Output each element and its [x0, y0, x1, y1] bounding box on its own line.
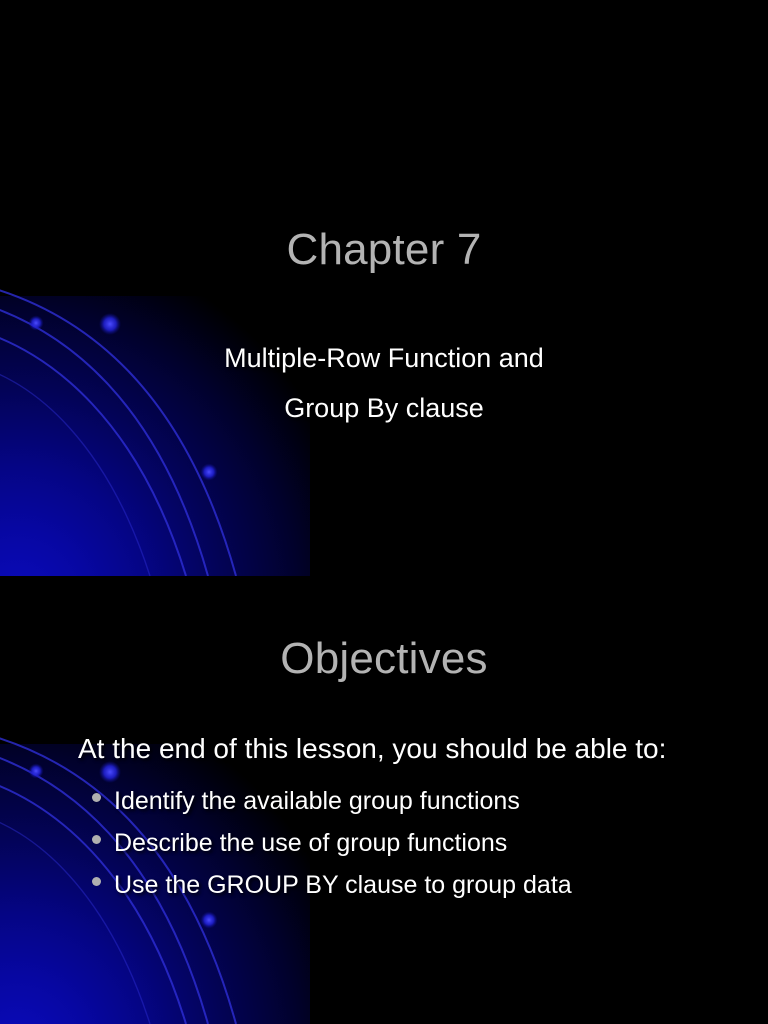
- arc-dot-lower: [201, 912, 218, 929]
- arc-dot-small: [29, 764, 44, 779]
- list-item-label: Describe the use of group functions: [114, 829, 507, 857]
- objectives-lead-text: At the end of this lesson, you should be…: [78, 728, 712, 769]
- bullet-dot-icon: [92, 835, 101, 844]
- list-item: Identify the available group functions: [92, 780, 712, 822]
- slide-1-title: Chapter 7: [0, 225, 768, 275]
- slide-2-title: Objectives: [0, 634, 768, 684]
- list-item-label: Identify the available group functions: [114, 787, 520, 815]
- list-item: Use the GROUP BY clause to group data: [92, 864, 712, 906]
- slide-title-chapter: Chapter 7 Multiple-Row Function and Grou…: [0, 0, 768, 576]
- arc-dot-large: [99, 313, 121, 335]
- slide-1-subtitle: Multiple-Row Function and Group By claus…: [0, 333, 768, 433]
- slide-2-body: At the end of this lesson, you should be…: [78, 728, 712, 906]
- list-item-label: Use the GROUP BY clause to group data: [114, 871, 572, 899]
- slide-deck: Chapter 7 Multiple-Row Function and Grou…: [0, 0, 768, 1024]
- arc-dot-small: [29, 316, 44, 331]
- bullet-dot-icon: [92, 793, 101, 802]
- slide-1-subtitle-line-2: Group By clause: [0, 383, 768, 433]
- slide-objectives: Objectives At the end of this lesson, yo…: [0, 576, 768, 1024]
- list-item: Describe the use of group functions: [92, 822, 712, 864]
- arc-dot-lower: [201, 464, 218, 481]
- slide-1-subtitle-line-1: Multiple-Row Function and: [0, 333, 768, 383]
- bullet-dot-icon: [92, 877, 101, 886]
- objectives-bullet-list: Identify the available group functions D…: [78, 780, 712, 906]
